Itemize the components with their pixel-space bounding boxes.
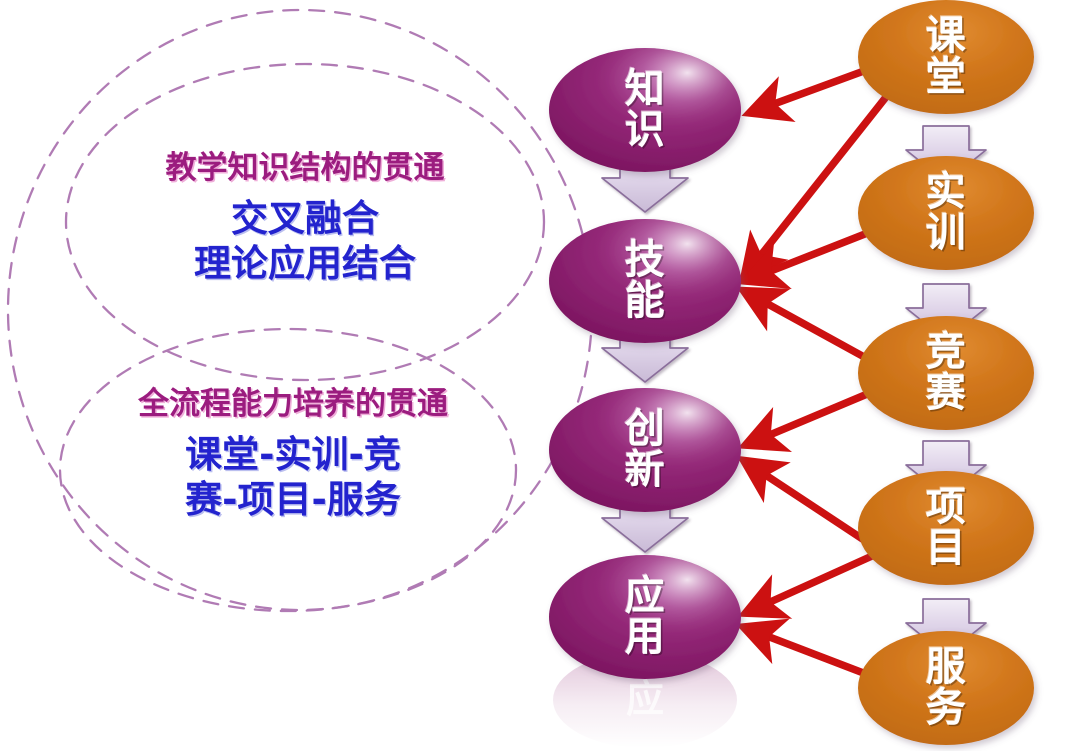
diagram-canvas: 应 [0, 0, 1080, 751]
node-jineng[interactable] [549, 219, 741, 343]
node-jingsai[interactable] [858, 316, 1034, 430]
node-xiangmu[interactable] [858, 471, 1034, 585]
svg-text:应: 应 [626, 677, 664, 721]
node-ketang[interactable] [858, 0, 1034, 114]
node-shixun[interactable] [858, 156, 1034, 270]
node-chuangxin[interactable] [549, 388, 741, 512]
dashed-ellipse-group [8, 10, 592, 611]
link-ketang-jineng [746, 92, 890, 274]
process-nodes [858, 0, 1034, 745]
node-fuwu[interactable] [858, 631, 1034, 745]
link-jingsai-chuangxin [748, 392, 872, 444]
link-ketang-zhishi [752, 68, 872, 112]
link-fuwu-yingyong [746, 628, 866, 674]
link-jingsai-jineng [746, 292, 866, 358]
link-xiangmu-yingyong [748, 556, 872, 612]
node-yingyong[interactable] [549, 555, 741, 679]
link-shixun-jineng [748, 232, 870, 280]
link-xiangmu-chuangxin [746, 462, 864, 540]
upper-dashed-ellipse [66, 64, 544, 380]
node-zhishi[interactable] [549, 48, 741, 172]
diagram-svg: 应 [0, 0, 1080, 751]
outer-dashed-ellipse [8, 10, 592, 610]
lower-dashed-ellipse [60, 329, 516, 611]
